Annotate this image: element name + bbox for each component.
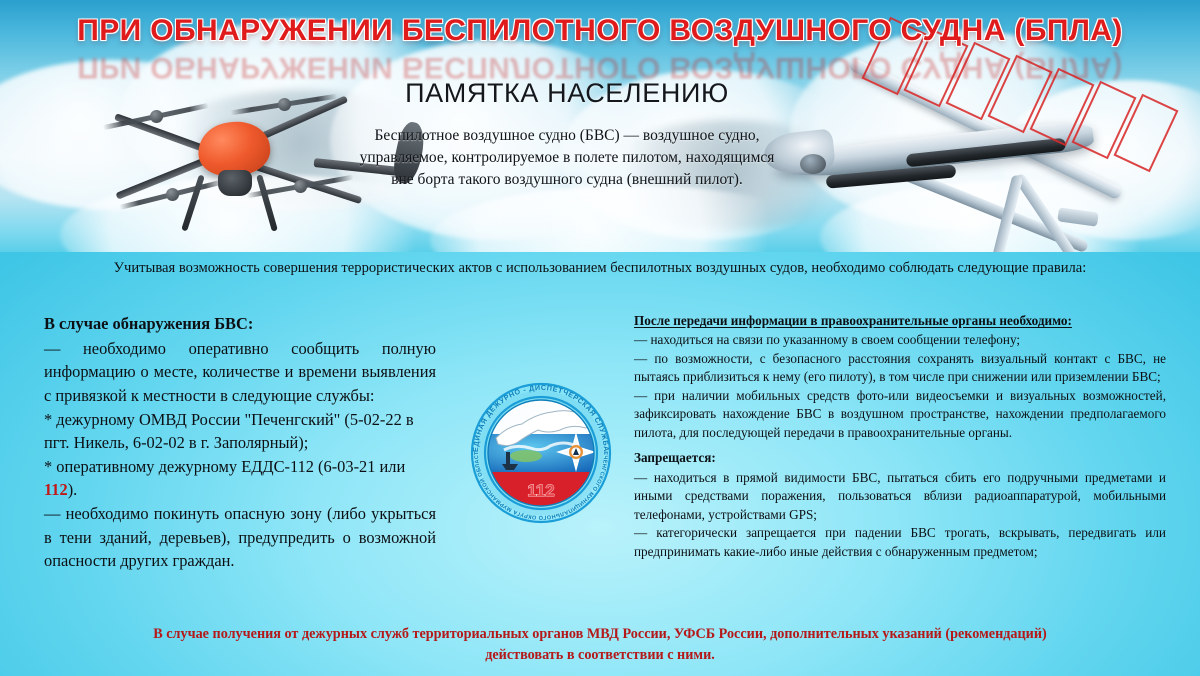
edds-suffix: ). <box>68 480 78 499</box>
right-column: После передачи информации в правоохранит… <box>634 312 1166 561</box>
left-column-heading: В случае обнаружения БВС: <box>44 312 436 336</box>
left-column-item: * дежурному ОМВД России "Печенгский" (5-… <box>44 408 436 455</box>
emblem-112-number: 112 <box>527 481 554 500</box>
prohibited-item: — категорически запрещается при падении … <box>634 524 1166 561</box>
left-column-item: — необходимо покинуть опасную зону (либо… <box>44 502 436 573</box>
right-column-heading: После передачи информации в правоохранит… <box>634 312 1166 330</box>
edds-prefix: * оперативному дежурному ЕДДС-112 (6-03-… <box>44 457 405 476</box>
intro-paragraph: Учитывая возможность совершения террорис… <box>88 258 1112 279</box>
emergency-service-112-emblem: ЕДИНАЯ ДЕЖУРНО - ДИСПЕТЧЕРСКАЯ СЛУЖБА ПЕ… <box>452 378 630 528</box>
left-column: В случае обнаружения БВС: — необходимо о… <box>44 312 436 573</box>
right-column-item: — при наличии мобильных средств фото-или… <box>634 387 1166 442</box>
drone-definition-text: Беспилотное воздушное судно (БВС) — возд… <box>352 125 782 191</box>
left-column-item: — необходимо оперативно сообщить полную … <box>44 337 436 408</box>
left-column-edds-item: * оперативному дежурному ЕДДС-112 (6-03-… <box>44 455 436 502</box>
poster-title: ПРИ ОБНАРУЖЕНИИ БЕСПИЛОТНОГО ВОЗДУШНОГО … <box>77 14 1123 48</box>
poster-subtitle: ПАМЯТКА НАСЕЛЕНИЮ <box>352 78 782 109</box>
prohibited-item: — находиться в прямой видимости БВС, пыт… <box>634 469 1166 524</box>
footer-note: В случае получения от дежурных служб тер… <box>120 624 1080 667</box>
right-column-item: — по возможности, с безопасного расстоян… <box>634 350 1166 387</box>
poster-title-bar: ПРИ ОБНАРУЖЕНИИ БЕСПИЛОТНОГО ВОЗДУШНОГО … <box>0 14 1200 48</box>
prohibited-heading: Запрещается: <box>634 449 1166 467</box>
poster-root: ПРИ ОБНАРУЖЕНИИ БЕСПИЛОТНОГО ВОЗДУШНОГО … <box>0 0 1200 676</box>
head-block: ПАМЯТКА НАСЕЛЕНИЮ Беспилотное воздушное … <box>352 78 782 191</box>
right-column-item: — находиться на связи по указанному в св… <box>634 331 1166 349</box>
edds-phone-number: 112 <box>44 480 68 499</box>
